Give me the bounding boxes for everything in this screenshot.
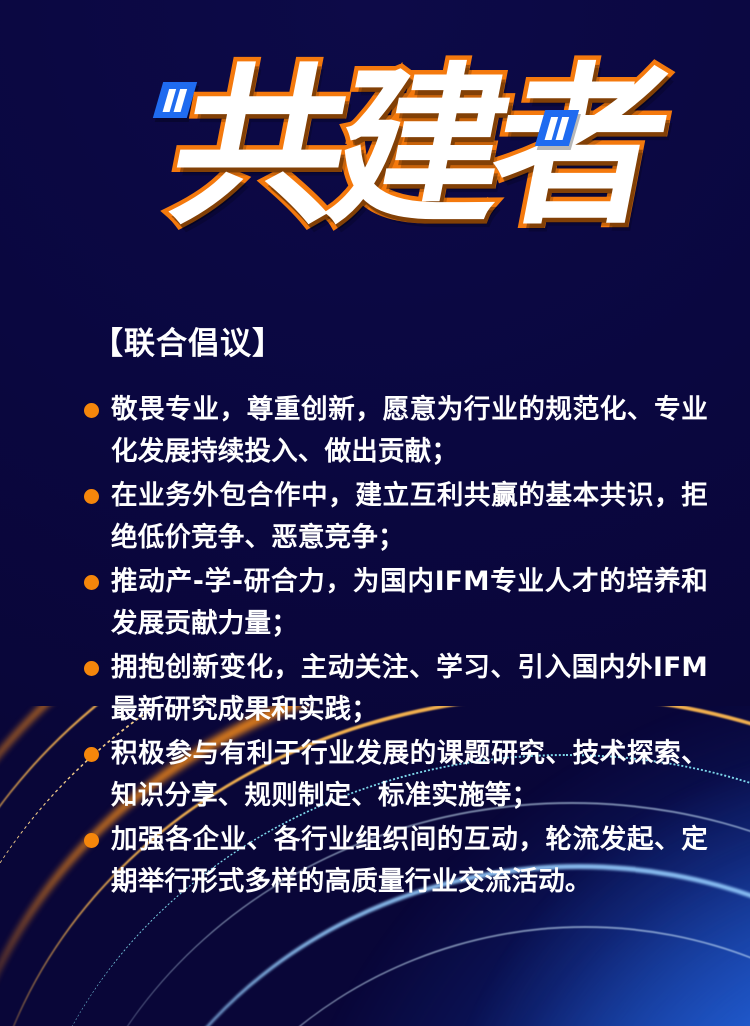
poster-content: 【联合倡议】 敬畏专业，尊重创新，愿意为行业的规范化、专业化发展持续投入、做出贡… [0,318,750,905]
list-item-text: 推动产-学-研合力，为国内IFM专业人才的培养和发展贡献力量； [111,566,708,639]
trail-arc-white-2 [140,926,750,1026]
list-item: 敬畏专业，尊重创新，愿意为行业的规范化、专业化发展持续投入、做出贡献； [78,389,708,473]
bullet-dot-icon [84,661,99,676]
list-item: 拥抱创新变化，主动关注、学习、引入国内外IFM最新研究成果和实践； [78,647,708,731]
bullet-dot-icon [84,833,99,848]
bullet-dot-icon [84,403,99,418]
list-item: 积极参与有利于行业发展的课题研究、技术探索、知识分享、规则制定、标准实施等； [78,733,708,817]
list-item-text: 拥抱创新变化，主动关注、学习、引入国内外IFM最新研究成果和实践； [111,652,708,725]
poster-canvas: 共建者 【联合倡议】 敬畏专业，尊重创新，愿意为行业的规范化、专业化发展持续投入… [0,0,750,1026]
list-item-text: 敬畏专业，尊重创新，愿意为行业的规范化、专业化发展持续投入、做出贡献； [111,394,708,467]
list-item-text: 加强各企业、各行业组织间的互动，轮流发起、定期举行形式多样的高质量行业交流活动。 [111,824,708,897]
bullet-dot-icon [84,575,99,590]
list-item: 加强各企业、各行业组织间的互动，轮流发起、定期举行形式多样的高质量行业交流活动。 [78,819,708,903]
poster-title-block: 共建者 [0,62,750,292]
poster-title: 共建者 [158,62,671,234]
section-heading: 【联合倡议】 [92,318,750,363]
joint-initiative-list: 敬畏专业，尊重创新，愿意为行业的规范化、专业化发展持续投入、做出贡献； 在业务外… [0,389,750,903]
list-item: 在业务外包合作中，建立互利共赢的基本共识，拒绝低价竞争、恶意竞争； [78,475,708,559]
list-item: 推动产-学-研合力，为国内IFM专业人才的培养和发展贡献力量； [78,561,708,645]
list-item-text: 在业务外包合作中，建立互利共赢的基本共识，拒绝低价竞争、恶意竞争； [111,480,708,553]
list-item-text: 积极参与有利于行业发展的课题研究、技术探索、知识分享、规则制定、标准实施等； [111,738,708,811]
bullet-dot-icon [84,747,99,762]
bullet-dot-icon [84,489,99,504]
